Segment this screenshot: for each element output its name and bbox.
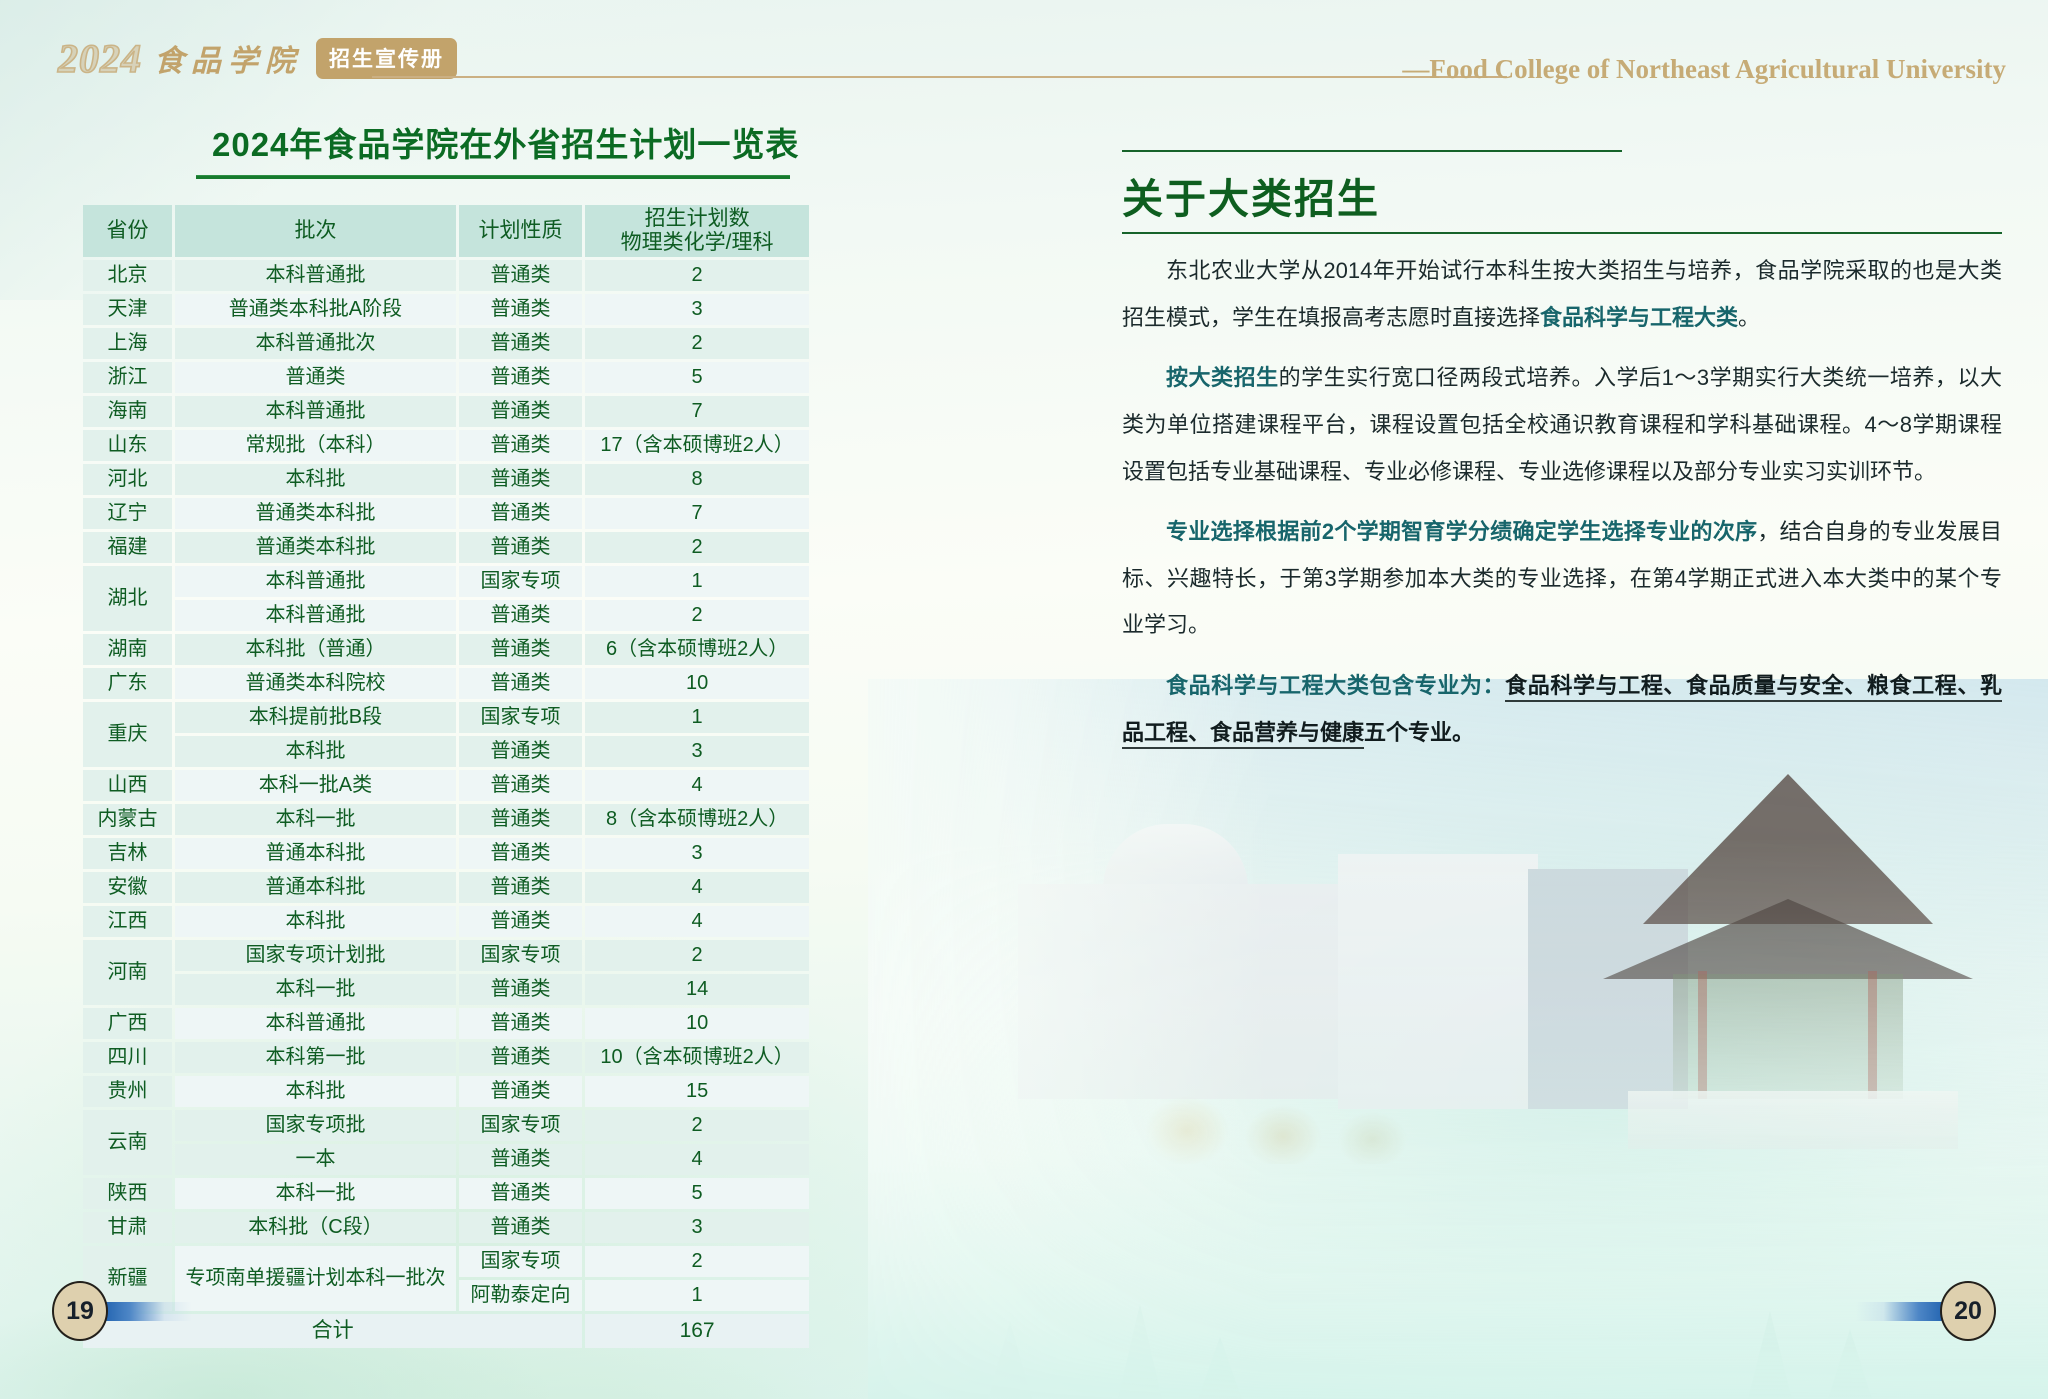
cell-province: 广西 (83, 1008, 172, 1039)
cell-nature: 普通类 (459, 838, 582, 869)
cell-province: 江西 (83, 906, 172, 937)
cell-nature: 国家专项 (459, 566, 582, 597)
table-row: 北京本科普通批普通类2 (83, 260, 809, 291)
cell-plan-count: 3 (585, 1212, 809, 1243)
p2-highlight: 按大类招生 (1166, 365, 1279, 390)
cell-province: 浙江 (83, 362, 172, 393)
cell-plan-count: 8 (585, 464, 809, 495)
brochure-logo: 2024 食品学院 招生宣传册 (58, 36, 457, 80)
cell-nature: 普通类 (459, 362, 582, 393)
cell-nature: 普通类 (459, 1042, 582, 1073)
page-number-right-bar (1856, 1302, 1948, 1321)
cell-plan-count: 2 (585, 532, 809, 563)
cell-plan-count: 10（含本硕博班2人） (585, 1042, 809, 1073)
cell-plan-count: 17（含本硕博班2人） (585, 430, 809, 461)
page-header: 2024 食品学院 招生宣传册 —Food College of Northea… (0, 0, 2048, 100)
table-row: 福建普通类本科批普通类2 (83, 532, 809, 563)
cell-nature: 普通类 (459, 1144, 582, 1175)
cell-plan-count: 7 (585, 498, 809, 529)
cell-batch: 本科普通批 (175, 566, 456, 597)
table-row: 贵州本科批普通类15 (83, 1076, 809, 1107)
cell-province: 天津 (83, 294, 172, 325)
cell-nature: 普通类 (459, 770, 582, 801)
cell-nature: 普通类 (459, 294, 582, 325)
cell-batch: 普通类 (175, 362, 456, 393)
cell-nature: 普通类 (459, 1212, 582, 1243)
cell-plan-count: 4 (585, 770, 809, 801)
col-batch: 批次 (175, 205, 456, 257)
page-number-left-value: 19 (52, 1281, 108, 1341)
cell-batch: 普通类本科批 (175, 498, 456, 529)
cell-plan-count: 8（含本硕博班2人） (585, 804, 809, 835)
header-rule (372, 76, 1507, 78)
table-row: 一本普通类4 (83, 1144, 809, 1175)
table-title: 2024年食品学院在外省招生计划一览表 (212, 118, 900, 166)
table-row: 吉林普通本科批普通类3 (83, 838, 809, 869)
cell-nature: 普通类 (459, 634, 582, 665)
cell-plan-count: 1 (585, 566, 809, 597)
cell-batch: 本科批 (175, 464, 456, 495)
cell-plan-count: 2 (585, 940, 809, 971)
cell-nature: 国家专项 (459, 940, 582, 971)
page-number-left-bar (100, 1302, 192, 1321)
cell-plan-count: 4 (585, 906, 809, 937)
logo-college-name: 食品学院 (154, 36, 302, 80)
cell-province: 云南 (83, 1110, 172, 1175)
p3-highlight: 专业选择根据前2个学期智育学分绩确定学生选择专业的次序 (1166, 519, 1757, 544)
table-row: 山西本科一批A类普通类4 (83, 770, 809, 801)
table-row: 湖北本科普通批国家专项1 (83, 566, 809, 597)
cell-province: 甘肃 (83, 1212, 172, 1243)
table-row: 上海本科普通批次普通类2 (83, 328, 809, 359)
table-row: 安徽普通本科批普通类4 (83, 872, 809, 903)
p1-text-b: 。 (1738, 305, 1760, 330)
cell-nature: 普通类 (459, 464, 582, 495)
col-plan-count-line2: 物理类化学/理科 (585, 231, 809, 255)
cell-plan-count: 7 (585, 396, 809, 427)
cell-plan-count: 1 (585, 702, 809, 733)
table-head: 省份 批次 计划性质 招生计划数 物理类化学/理科 (83, 205, 809, 257)
cell-batch: 专项南单援疆计划本科一批次 (175, 1246, 456, 1311)
cell-batch: 本科批（C段） (175, 1212, 456, 1243)
cell-batch: 普通类本科院校 (175, 668, 456, 699)
table-body: 北京本科普通批普通类2天津普通类本科批A阶段普通类3上海本科普通批次普通类2浙江… (83, 260, 809, 1348)
cell-batch: 本科批 (175, 1076, 456, 1107)
table-row: 辽宁普通类本科批普通类7 (83, 498, 809, 529)
paragraph-3: 专业选择根据前2个学期智育学分绩确定学生选择专业的次序，结合自身的专业发展目标、… (1122, 509, 2002, 649)
cell-nature: 阿勒泰定向 (459, 1280, 582, 1311)
cell-province: 山西 (83, 770, 172, 801)
table-row: 湖南本科批（普通）普通类6（含本硕博班2人） (83, 634, 809, 665)
table-header-row: 省份 批次 计划性质 招生计划数 物理类化学/理科 (83, 205, 809, 257)
cell-province: 广东 (83, 668, 172, 699)
cell-nature: 普通类 (459, 736, 582, 767)
cell-plan-count: 2 (585, 1110, 809, 1141)
cell-batch: 常规批（本科） (175, 430, 456, 461)
page-number-left: 19 (52, 1281, 192, 1341)
cell-plan-count: 4 (585, 1144, 809, 1175)
cell-batch: 本科一批 (175, 974, 456, 1005)
cell-batch: 本科批（普通） (175, 634, 456, 665)
table-row: 陕西本科一批普通类5 (83, 1178, 809, 1209)
cell-batch: 本科第一批 (175, 1042, 456, 1073)
page-number-right: 20 (1856, 1281, 1996, 1341)
table-row: 海南本科普通批普通类7 (83, 396, 809, 427)
cell-nature: 普通类 (459, 600, 582, 631)
cell-batch: 本科一批 (175, 1178, 456, 1209)
cell-batch: 本科普通批 (175, 396, 456, 427)
article-body: 东北农业大学从2014年开始试行本科生按大类招生与培养，食品学院采取的也是大类招… (1122, 248, 2002, 756)
cell-province: 山东 (83, 430, 172, 461)
cell-province: 海南 (83, 396, 172, 427)
cell-batch: 一本 (175, 1144, 456, 1175)
logo-badge: 招生宣传册 (316, 38, 457, 79)
cell-plan-count: 3 (585, 736, 809, 767)
table-row: 本科批普通类3 (83, 736, 809, 767)
total-value: 167 (585, 1314, 809, 1348)
table-row: 内蒙古本科一批普通类8（含本硕博班2人） (83, 804, 809, 835)
cell-nature: 普通类 (459, 668, 582, 699)
cell-province: 内蒙古 (83, 804, 172, 835)
section-rule-bottom (1122, 232, 2002, 234)
table-row: 河北本科批普通类8 (83, 464, 809, 495)
cell-province: 福建 (83, 532, 172, 563)
cell-nature: 普通类 (459, 804, 582, 835)
table-column: 2024年食品学院在外省招生计划一览表 省份 批次 计划性质 招生计划数 物理类… (0, 118, 900, 1351)
table-row: 浙江普通类普通类5 (83, 362, 809, 393)
table-row: 广西本科普通批普通类10 (83, 1008, 809, 1039)
table-row: 广东普通类本科院校普通类10 (83, 668, 809, 699)
table-row: 本科普通批普通类2 (83, 600, 809, 631)
cell-batch: 国家专项批 (175, 1110, 456, 1141)
section-rule-top (1122, 150, 1622, 152)
cell-batch: 普通本科批 (175, 872, 456, 903)
cell-plan-count: 10 (585, 668, 809, 699)
cell-plan-count: 10 (585, 1008, 809, 1039)
cell-batch: 普通类本科批A阶段 (175, 294, 456, 325)
cell-province: 辽宁 (83, 498, 172, 529)
cell-province: 湖北 (83, 566, 172, 631)
cell-province: 重庆 (83, 702, 172, 767)
col-plan-count-line1: 招生计划数 (585, 207, 809, 231)
cell-plan-count: 2 (585, 260, 809, 291)
table-row: 天津普通类本科批A阶段普通类3 (83, 294, 809, 325)
cell-plan-count: 1 (585, 1280, 809, 1311)
cell-nature: 普通类 (459, 1076, 582, 1107)
table-row: 本科一批普通类14 (83, 974, 809, 1005)
cell-batch: 普通类本科批 (175, 532, 456, 563)
cell-nature: 普通类 (459, 974, 582, 1005)
cell-province: 河南 (83, 940, 172, 1005)
cell-nature: 普通类 (459, 1178, 582, 1209)
cell-nature: 普通类 (459, 906, 582, 937)
cell-province: 贵州 (83, 1076, 172, 1107)
cell-batch: 本科普通批 (175, 600, 456, 631)
page-number-right-value: 20 (1940, 1281, 1996, 1341)
col-province: 省份 (83, 205, 172, 257)
col-nature: 计划性质 (459, 205, 582, 257)
table-row: 江西本科批普通类4 (83, 906, 809, 937)
table-row: 甘肃本科批（C段）普通类3 (83, 1212, 809, 1243)
table-row: 云南国家专项批国家专项2 (83, 1110, 809, 1141)
cell-batch: 本科一批 (175, 804, 456, 835)
cell-nature: 普通类 (459, 532, 582, 563)
cell-batch: 本科批 (175, 736, 456, 767)
paragraph-2: 按大类招生的学生实行宽口径两段式培养。入学后1～3学期实行大类统一培养，以大类为… (1122, 355, 2002, 495)
table-title-rule (196, 175, 790, 179)
logo-year: 2024 (58, 35, 142, 82)
cell-nature: 普通类 (459, 430, 582, 461)
section-title: 关于大类招生 (1122, 165, 2002, 225)
cell-province: 安徽 (83, 872, 172, 903)
enrollment-plan-table: 省份 批次 计划性质 招生计划数 物理类化学/理科 北京本科普通批普通类2天津普… (80, 202, 812, 1351)
p4-text: 五个专业。 (1364, 720, 1474, 745)
table-row: 重庆本科提前批B段国家专项1 (83, 702, 809, 733)
cell-province: 四川 (83, 1042, 172, 1073)
cell-batch: 普通本科批 (175, 838, 456, 869)
cell-province: 湖南 (83, 634, 172, 665)
cell-batch: 本科普通批 (175, 260, 456, 291)
cell-plan-count: 2 (585, 1246, 809, 1277)
article-column: 关于大类招生 东北农业大学从2014年开始试行本科生按大类招生与培养，食品学院采… (1122, 150, 2002, 756)
paragraph-1: 东北农业大学从2014年开始试行本科生按大类招生与培养，食品学院采取的也是大类招… (1122, 248, 2002, 341)
cell-batch: 本科提前批B段 (175, 702, 456, 733)
table-row: 河南国家专项计划批国家专项2 (83, 940, 809, 971)
table-row: 新疆专项南单援疆计划本科一批次国家专项2 (83, 1246, 809, 1277)
cell-nature: 普通类 (459, 396, 582, 427)
cell-plan-count: 2 (585, 328, 809, 359)
cell-province: 河北 (83, 464, 172, 495)
cell-province: 吉林 (83, 838, 172, 869)
cell-batch: 本科批 (175, 906, 456, 937)
cell-plan-count: 15 (585, 1076, 809, 1107)
cell-plan-count: 4 (585, 872, 809, 903)
cell-nature: 国家专项 (459, 1110, 582, 1141)
cell-batch: 本科一批A类 (175, 770, 456, 801)
cell-nature: 普通类 (459, 1008, 582, 1039)
table-row: 四川本科第一批普通类10（含本硕博班2人） (83, 1042, 809, 1073)
cell-nature: 普通类 (459, 260, 582, 291)
cell-plan-count: 5 (585, 1178, 809, 1209)
p4-highlight: 食品科学与工程大类包含专业为： (1166, 673, 1505, 698)
p1-highlight: 食品科学与工程大类 (1540, 305, 1738, 330)
header-english-title: —Food College of Northeast Agricultural … (1402, 54, 2006, 85)
cell-plan-count: 3 (585, 838, 809, 869)
cell-plan-count: 14 (585, 974, 809, 1005)
cell-province: 北京 (83, 260, 172, 291)
cell-nature: 普通类 (459, 328, 582, 359)
cell-batch: 本科普通批 (175, 1008, 456, 1039)
cell-plan-count: 3 (585, 294, 809, 325)
cell-plan-count: 6（含本硕博班2人） (585, 634, 809, 665)
cell-plan-count: 2 (585, 600, 809, 631)
cell-nature: 普通类 (459, 872, 582, 903)
cell-province: 陕西 (83, 1178, 172, 1209)
cell-nature: 国家专项 (459, 702, 582, 733)
cell-plan-count: 5 (585, 362, 809, 393)
cell-batch: 本科普通批次 (175, 328, 456, 359)
paragraph-4: 食品科学与工程大类包含专业为：食品科学与工程、食品质量与安全、粮食工程、乳品工程… (1122, 663, 2002, 756)
cell-nature: 普通类 (459, 498, 582, 529)
brochure-page: 2024 食品学院 招生宣传册 —Food College of Northea… (0, 0, 2048, 1399)
cell-province: 上海 (83, 328, 172, 359)
cell-nature: 国家专项 (459, 1246, 582, 1277)
cell-batch: 国家专项计划批 (175, 940, 456, 971)
table-row: 山东常规批（本科）普通类17（含本硕博班2人） (83, 430, 809, 461)
col-plan-count: 招生计划数 物理类化学/理科 (585, 205, 809, 257)
